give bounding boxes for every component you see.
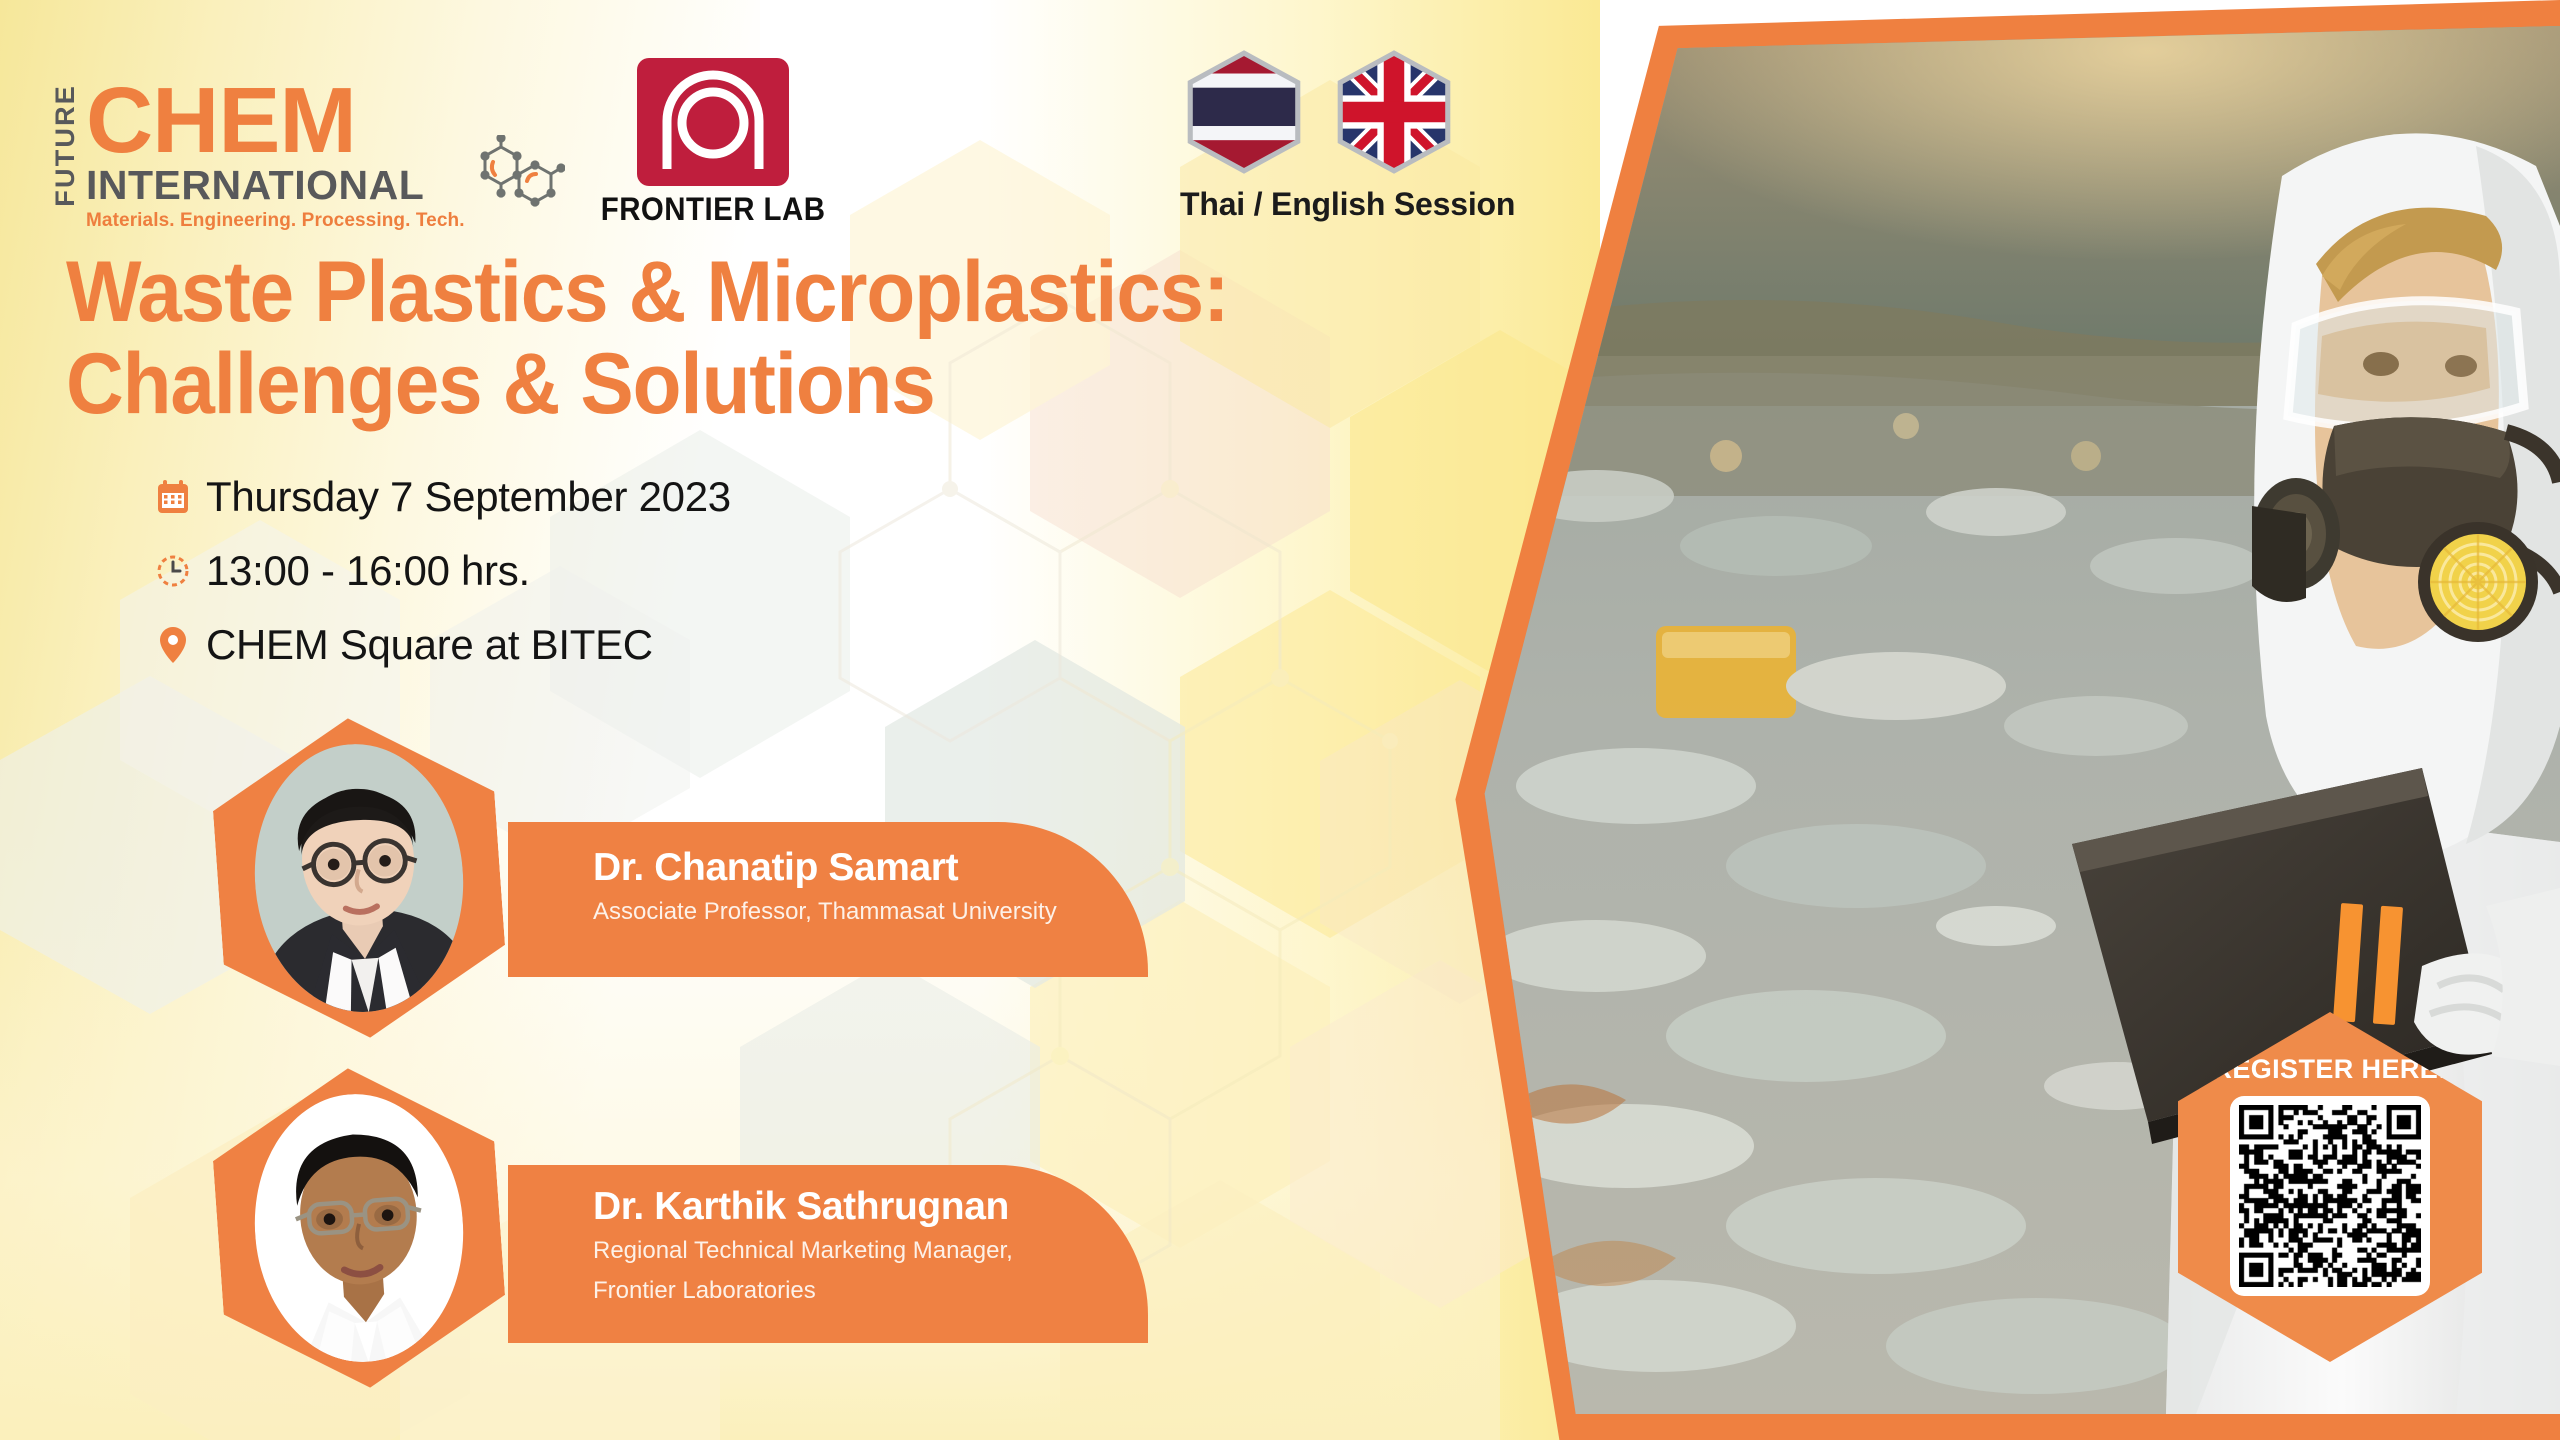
badge-hanging-strips: [2333, 903, 2403, 1025]
speaker-2-banner: Dr. Karthik Sathrugnan Regional Technica…: [508, 1165, 1148, 1343]
calendar-icon: [150, 479, 196, 515]
detail-row-venue: CHEM Square at BITEC: [150, 608, 731, 682]
title-line-2: Challenges & Solutions: [66, 338, 1303, 430]
logo-international-word: INTERNATIONAL: [86, 164, 465, 207]
logo-chem-word: CHEM: [86, 80, 465, 162]
location-pin-icon: [150, 626, 196, 664]
page-title: Waste Plastics & Microplastics: Challeng…: [66, 246, 1303, 430]
speaker-portrait-karthik: [246, 1087, 473, 1370]
speaker-2-role-line-2: Frontier Laboratories: [593, 1273, 1013, 1309]
detail-row-date: Thursday 7 September 2023: [150, 460, 731, 534]
molecule-icon: [479, 135, 565, 218]
detail-text-time: 13:00 - 16:00 hrs.: [206, 547, 530, 595]
thai-flag-icon: [1180, 48, 1308, 176]
banner-canvas: FUTURE CHEM INTERNATIONAL Materials. Eng…: [0, 0, 2560, 1440]
speaker-1-banner: Dr. Chanatip Samart Associate Professor,…: [508, 822, 1148, 977]
qr-code-icon[interactable]: [2230, 1096, 2430, 1296]
future-chem-international-logo: FUTURE CHEM INTERNATIONAL Materials. Eng…: [52, 80, 565, 232]
speaker-2-name: Dr. Karthik Sathrugnan: [593, 1185, 1013, 1229]
clock-icon: [150, 553, 196, 589]
event-details-list: Thursday 7 September 2023 13:00 - 16:00 …: [150, 460, 731, 682]
speaker-2-avatar: [207, 1059, 511, 1398]
detail-text-venue: CHEM Square at BITEC: [206, 621, 653, 669]
detail-row-time: 13:00 - 16:00 hrs.: [150, 534, 731, 608]
speaker-2-role-line-1: Regional Technical Marketing Manager,: [593, 1233, 1013, 1269]
logo-future-word: FUTURE: [52, 84, 79, 207]
speaker-1-name: Dr. Chanatip Samart: [593, 846, 1057, 890]
frontier-lab-logo: FRONTIER LAB: [591, 58, 835, 228]
frontier-arch-mark-icon: [637, 58, 789, 186]
speaker-portrait-chanatip: [246, 737, 473, 1020]
detail-text-date: Thursday 7 September 2023: [206, 473, 731, 521]
title-line-1: Waste Plastics & Microplastics:: [66, 246, 1303, 338]
uk-flag-icon: [1330, 48, 1458, 176]
logo-row: FUTURE CHEM INTERNATIONAL Materials. Eng…: [52, 58, 835, 232]
speaker-1-role: Associate Professor, Thammasat Universit…: [593, 894, 1057, 930]
speaker-1-avatar: [207, 709, 511, 1048]
frontier-lab-name: FRONTIER LAB: [600, 191, 825, 228]
logo-tagline: Materials. Engineering. Processing. Tech…: [86, 210, 465, 232]
